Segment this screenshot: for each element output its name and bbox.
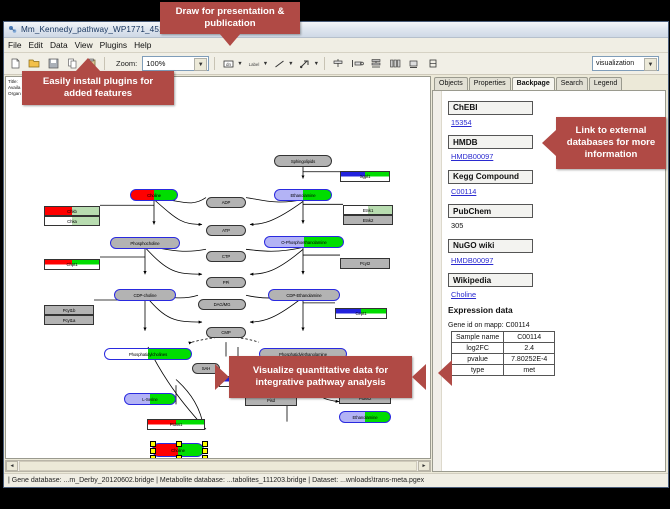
status-text: | Gene database: ...m_Derby_20120602.bri…: [8, 477, 424, 484]
table-row: log2FC 2.4: [452, 343, 555, 354]
metabolite-node[interactable]: CDP-Ethanolamine: [268, 289, 340, 301]
node-label: Choline: [147, 193, 161, 198]
callout-plugins-text: Easily install plugins for added feature…: [28, 76, 168, 100]
cell-value: 7.80252E-4: [504, 354, 555, 365]
stack-icon[interactable]: [368, 55, 384, 72]
expression-data-heading: Expression data: [448, 305, 659, 315]
datanode-icon[interactable]: dn: [220, 55, 236, 72]
metabolite-node[interactable]: Ethanolamine: [339, 411, 391, 423]
callout-plugins-arrow: [75, 58, 101, 72]
db-name-kegg: Kegg Compound: [448, 170, 533, 184]
callout-draw: Draw for presentation & publication: [160, 2, 300, 34]
open-icon[interactable]: [26, 55, 42, 72]
menu-bar: File Edit Data View Plugins Help: [4, 38, 668, 53]
align-icon[interactable]: [330, 55, 346, 72]
callout-link-text: Link to external databases for more info…: [562, 125, 660, 161]
selection-handle[interactable]: [150, 455, 156, 459]
line-icon[interactable]: [271, 55, 287, 72]
selection-handle[interactable]: [150, 441, 156, 447]
node-label: Etnk2: [363, 218, 374, 223]
db-value-wikipedia: Choline: [451, 290, 659, 299]
db-name-pubchem: PubChem: [448, 204, 533, 218]
app-icon: [8, 25, 17, 34]
expression-table: Sample name C00114 log2FC 2.4 pvalue 7.8…: [451, 331, 555, 376]
tab-objects[interactable]: Objects: [434, 77, 468, 90]
node-label: Pcyt1b: [63, 308, 76, 313]
node-label: CMP: [221, 330, 230, 335]
scroll-left-icon[interactable]: ◄: [6, 461, 18, 471]
group-icon[interactable]: [387, 55, 403, 72]
metabolite-node[interactable]: Sphingolipids: [274, 155, 332, 167]
side-panel-tabs: Objects Properties Backpage Search Legen…: [432, 76, 666, 90]
menu-help[interactable]: Help: [134, 40, 151, 50]
canvas-hscrollbar[interactable]: ◄ ►: [5, 460, 431, 472]
zoom-combobox[interactable]: 100% ▼: [142, 56, 209, 71]
node-label: DAG/MG: [214, 302, 231, 307]
visualization-combobox[interactable]: visualization ▼: [592, 56, 659, 71]
toolbar-separator: [324, 57, 325, 70]
anchor-tool[interactable]: ▼: [297, 55, 319, 72]
node-label: L-Serine: [142, 397, 157, 402]
datanode-tool[interactable]: dn ▼: [220, 55, 242, 72]
node-label: Ethanolamine: [290, 193, 315, 198]
gene-node[interactable]: Pcyt2: [340, 258, 390, 269]
kegg-link[interactable]: C00114: [451, 187, 476, 196]
gene-node[interactable]: Cept1: [335, 308, 387, 319]
callout-link-arrow: [542, 130, 556, 156]
chevron-down-icon[interactable]: ▼: [237, 61, 242, 67]
node-label: Phosphatidylcholines: [129, 352, 167, 357]
db-value-pubchem: 305: [451, 221, 659, 230]
node-label: CDP-Ethanolamine: [286, 293, 321, 298]
node-label: ADP: [222, 200, 231, 205]
cell-value: 2.4: [504, 343, 555, 354]
metabolite-node[interactable]: CMP: [206, 327, 246, 338]
node-label: Ptdss1: [170, 422, 183, 427]
selection-handle[interactable]: [202, 441, 208, 447]
save-icon[interactable]: [45, 55, 61, 72]
svg-text:Label: Label: [248, 61, 259, 66]
visualization-value: visualization: [596, 60, 634, 67]
metabolite-node[interactable]: CDP-choline: [114, 289, 176, 301]
node-label: Pisd: [267, 398, 275, 403]
hmdb-link[interactable]: HMDB00097: [451, 152, 493, 161]
tab-properties[interactable]: Properties: [469, 77, 511, 90]
menu-plugins[interactable]: Plugins: [100, 40, 127, 50]
node-label: Pcyt2: [360, 261, 370, 266]
db-value-kegg: C00114: [451, 187, 659, 196]
tab-legend[interactable]: Legend: [589, 77, 622, 90]
db-name-chebi: ChEBI: [448, 101, 533, 115]
cell-label: Sample name: [452, 332, 504, 343]
callout-draw-text: Draw for presentation & publication: [166, 6, 294, 30]
anchor-icon[interactable]: [297, 55, 313, 72]
chevron-down-icon[interactable]: ▼: [288, 61, 293, 67]
cell-label: pvalue: [452, 354, 504, 365]
lock-icon[interactable]: [425, 55, 441, 72]
backpage-scrollbar[interactable]: [433, 91, 442, 471]
metabolite-node[interactable]: DAG/MG: [198, 299, 246, 310]
db-name-nugo: NuGO wiki: [448, 239, 533, 253]
label-tool[interactable]: Label ▼: [246, 55, 268, 72]
menu-edit[interactable]: Edit: [29, 40, 43, 50]
callout-visualize-text: Visualize quantitative data for integrat…: [235, 365, 406, 389]
status-bar: | Gene database: ...m_Derby_20120602.bri…: [4, 473, 668, 487]
gene-node[interactable]: Pcyt1a: [44, 315, 94, 325]
title-bar: Mm_Kennedy_pathway_WP1771_45176.gpml: [4, 22, 668, 38]
pathway-canvas-pane[interactable]: Title: Availa Organ: [5, 76, 431, 459]
table-row: pvalue 7.80252E-4: [452, 354, 555, 365]
gene-node[interactable]: Chkb: [44, 206, 100, 216]
chevron-down-icon[interactable]: ▼: [194, 58, 207, 71]
metabolite-node[interactable]: Phosphatidylcholines: [104, 348, 192, 360]
node-label: Sphingolipids: [291, 159, 315, 164]
metabolite-node[interactable]: Phosphocholine: [110, 237, 180, 249]
line-tool[interactable]: ▼: [271, 55, 293, 72]
gene-node[interactable]: Chka: [44, 216, 100, 226]
menu-view[interactable]: View: [75, 40, 93, 50]
db-value-nugo: HMDB00097: [451, 256, 659, 265]
selection-handle[interactable]: [202, 448, 208, 454]
selection-handle[interactable]: [176, 455, 182, 459]
metabolite-node[interactable]: PPi: [206, 277, 246, 288]
chebi-link[interactable]: 15354: [451, 118, 472, 127]
zoom-value: 100%: [146, 59, 165, 68]
node-label: SAH: [202, 366, 211, 371]
callout-visualize: Visualize quantitative data for integrat…: [229, 356, 412, 398]
db-section-pubchem: PubChem 305: [448, 201, 659, 231]
metabolite-node[interactable]: Ethanolamine: [274, 189, 332, 201]
node-label: CDP-choline: [133, 293, 156, 298]
gene-node[interactable]: Sgpl1: [340, 171, 390, 182]
node-label: Phosphocholine: [130, 241, 159, 246]
pathway-diagram[interactable]: SphingolipidsEthanolamineO-Phosphoethano…: [6, 77, 430, 458]
nugo-link[interactable]: HMDB00097: [451, 256, 493, 265]
db-section-kegg: Kegg Compound C00114: [448, 166, 659, 196]
cell-value: met: [504, 365, 555, 376]
node-label: Pcyt1a: [63, 318, 76, 323]
gene-node[interactable]: Etnk2: [343, 215, 393, 225]
scroll-thumb[interactable]: [19, 461, 417, 471]
node-label: Sgpl1: [360, 174, 371, 179]
metabolite-node[interactable]: L-Serine: [124, 393, 176, 405]
db-section-wikipedia: Wikipedia Choline: [448, 270, 659, 300]
tab-search[interactable]: Search: [556, 77, 588, 90]
node-label: Etnk1: [363, 208, 374, 213]
chevron-down-icon[interactable]: ▼: [644, 58, 657, 71]
cell-value: C00114: [504, 332, 555, 343]
node-label: Ethanolamine: [352, 415, 377, 420]
table-row: type met: [452, 365, 555, 376]
metabolite-node[interactable]: Choline: [130, 189, 178, 201]
node-label: Chka: [67, 219, 77, 224]
metabolite-node[interactable]: ATP: [206, 225, 246, 236]
callout-link: Link to external databases for more info…: [556, 117, 666, 169]
node-label: Cept1: [356, 311, 367, 316]
db-section-nugo: NuGO wiki HMDB00097: [448, 235, 659, 265]
gene-id-line: Gene id on mapp: C00114: [448, 322, 659, 329]
node-label: Chpt1: [67, 262, 78, 267]
callout-expression-arrow: [438, 360, 452, 386]
toolbar-separator: [214, 57, 215, 70]
db-name-hmdb: HMDB: [448, 135, 533, 149]
label-icon[interactable]: Label: [246, 55, 262, 72]
toolbar-separator: [104, 57, 105, 70]
zoom-label: Zoom:: [116, 59, 137, 68]
scroll-right-icon[interactable]: ►: [418, 461, 430, 471]
cell-label: log2FC: [452, 343, 504, 354]
table-row: Sample name C00114: [452, 332, 555, 343]
metabolite-node[interactable]: CTP: [206, 251, 246, 262]
callout-visualize-arrow-right: [412, 364, 426, 390]
selection-handle[interactable]: [202, 455, 208, 459]
screenshot-root: Mm_Kennedy_pathway_WP1771_45176.gpml Fil…: [0, 0, 670, 509]
callout-draw-arrow: [219, 33, 241, 46]
svg-text:dn: dn: [226, 61, 232, 66]
cell-label: type: [452, 365, 504, 376]
node-label: Choline: [171, 448, 185, 453]
distribute-icon[interactable]: [349, 55, 365, 72]
tab-backpage[interactable]: Backpage: [512, 77, 555, 91]
node-label: PPi: [223, 280, 229, 285]
callout-visualize-arrow-left: [215, 364, 229, 390]
gene-node[interactable]: Etnk1: [343, 205, 393, 215]
metabolite-node[interactable]: ADP: [206, 197, 246, 208]
menu-data[interactable]: Data: [50, 40, 68, 50]
node-label: O-Phosphoethanolamine: [281, 240, 326, 245]
selection-handle[interactable]: [176, 441, 182, 447]
metabolite-node[interactable]: O-Phosphoethanolamine: [264, 236, 344, 248]
gene-node[interactable]: Pcyt1b: [44, 305, 94, 315]
node-label: CTP: [222, 254, 230, 259]
db-name-wikipedia: Wikipedia: [448, 273, 533, 287]
chevron-down-icon[interactable]: ▼: [314, 61, 319, 67]
chevron-down-icon[interactable]: ▼: [263, 61, 268, 67]
new-icon[interactable]: [7, 55, 23, 72]
order-icon[interactable]: [406, 55, 422, 72]
node-label: ATP: [222, 228, 230, 233]
node-label: Chkb: [67, 209, 77, 214]
menu-file[interactable]: File: [8, 40, 22, 50]
selection-handle[interactable]: [150, 448, 156, 454]
gene-node[interactable]: Chpt1: [44, 259, 100, 270]
wikipedia-link[interactable]: Choline: [451, 290, 476, 299]
callout-plugins: Easily install plugins for added feature…: [22, 71, 174, 105]
gene-node[interactable]: Ptdss1: [147, 419, 205, 430]
